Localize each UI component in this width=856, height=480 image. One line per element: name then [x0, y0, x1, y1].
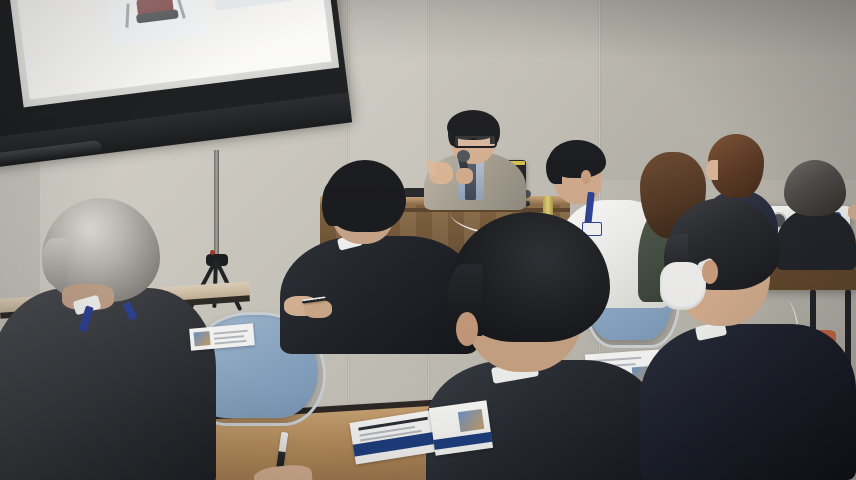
attendee-hair-side [546, 154, 562, 184]
attendee-hair-side [322, 182, 340, 226]
attendee-ear [581, 170, 591, 184]
attendee-front-left-gray-hair [0, 198, 220, 480]
navy-suit [640, 324, 856, 480]
gray-hair-side [42, 238, 68, 286]
handout-text-line [214, 330, 248, 335]
slide-photo-children-skating-cones [205, 0, 291, 10]
slide-photo-adult-pushing-child-sledge [97, 0, 207, 46]
handout-text-line [214, 340, 246, 345]
handout-thumbnail [193, 331, 210, 346]
handout-text-line [214, 335, 244, 340]
foreground-ear [456, 312, 478, 346]
masked-ear [702, 260, 718, 284]
woman-face-profile [706, 160, 718, 180]
conference-room-photo [0, 0, 856, 480]
presenter-glasses [453, 134, 497, 148]
handout-blue-band [433, 432, 492, 450]
glasses-bridge [471, 138, 476, 140]
handout-thumbnail [458, 409, 485, 432]
attendee-masked-man [640, 198, 856, 480]
handout-document-page2 [429, 400, 493, 456]
charcoal-suit [0, 288, 216, 480]
